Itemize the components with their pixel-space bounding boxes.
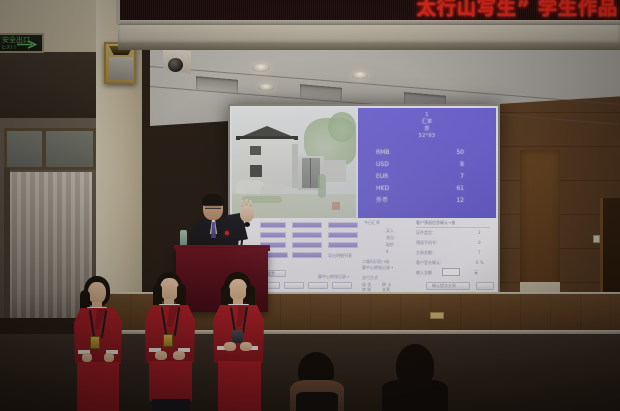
hostess-hand [104,353,114,362]
currency-row: USD 8 [376,160,480,169]
form-left-label: 今日汇率 [364,220,380,225]
hostess-hand [240,342,252,351]
exit-sign-english-label: EXIT [2,45,17,52]
heading-line-4: 52*93 [358,133,496,140]
form-chip[interactable] [292,252,322,258]
form-input-unit: 元 [474,270,478,275]
hostess-hand [82,353,92,362]
heading-line-3: 表 [358,126,496,133]
stage-outlet-plate [430,312,444,319]
form-cancel-button[interactable] [476,282,494,290]
hostess-skirt [149,361,192,401]
hostess-hand [173,351,185,360]
heading-line-1: 1 [358,112,496,119]
hostess-badge [90,336,100,349]
audience-member-2 [378,344,452,411]
currency-panel-heading: 1 汇率 表 52*93 [358,112,496,140]
hostess-legs [152,399,190,411]
form-left-label: 4 [386,249,389,254]
hostess-skirt [77,362,119,411]
form-chip[interactable] [292,242,322,248]
left-window [4,128,96,170]
hostess-hand [155,351,167,360]
form-right-field-label: 交易金额： [416,250,436,255]
hostess-badge [163,334,173,347]
led-banner-frame-bottom [118,20,620,25]
form-left-label: 卖出 [386,235,394,240]
form-chip[interactable] [328,242,358,248]
currency-value: 61 [456,184,464,193]
currency-row: HKD 61 [376,184,480,193]
form-footer-button[interactable] [284,282,304,289]
audience-member-1 [282,352,352,411]
audience-coat [296,392,338,411]
slide-form-panel: 导出明细列表 查询 重置 算中心转账记录→ 今日汇率 买入 卖出 现钞 4 二维… [230,218,498,292]
hostess-skirt [218,361,261,411]
form-chip[interactable] [328,232,358,238]
currency-value: 8 [460,160,464,169]
currency-value: 12 [456,196,464,205]
currency-code: 外币 [376,196,388,205]
currency-row: EUR 7 [376,172,480,181]
glasses-icon [205,205,221,209]
form-right-field-value: 0 [478,240,481,245]
form-footer-button[interactable] [308,282,328,289]
ceiling-light [258,84,274,91]
form-chip[interactable] [292,222,322,228]
hostess-hand [224,342,236,351]
form-export-label[interactable]: 导出明细列表 [328,253,352,258]
presenter-lapel-pin [225,231,229,235]
currency-code: RMB [376,148,389,157]
form-note-line-2: 算中心转账记录→ [362,265,393,270]
wood-panel-patch [520,150,560,300]
led-banner: 太行山写生” 学生作品 [118,0,620,22]
handheld-device [232,330,243,343]
form-note-right: 算中心转账记录→ [318,274,349,279]
currency-row: RMB 50 [376,148,480,157]
soffit-shadow [118,43,620,50]
speaker-grill [109,57,133,80]
security-camera-icon [168,58,183,72]
window-mullion [42,128,46,170]
hostess-face [88,282,106,304]
ceiling-light [352,72,368,79]
currency-code: EUR [376,172,388,181]
form-right-field-value: 2 [478,230,481,235]
form-right-field-label: 客户签名确认： [416,260,444,265]
form-submit-label: 确认提交交易 [432,283,456,288]
form-right-field-value: 7 [478,250,481,255]
form-right-field-label: 预留手机号： [416,240,440,245]
form-reset-label: 重置 [267,271,275,276]
form-chip[interactable] [260,222,286,228]
ceiling-soffit [118,24,620,44]
form-right-field-label: 证件类型： [416,230,436,235]
hostess-3 [208,272,268,411]
curtain-edge [4,168,10,318]
form-right-title: 客户预留信息确认→查 [416,220,455,225]
currency-code: USD [376,160,389,169]
currency-code: HKD [376,184,389,193]
form-left-label: 现钞 [386,242,394,247]
form-input-label: 输入金额 [416,270,432,275]
form-right-field-value: 6 % [476,260,484,265]
right-arrow-icon [17,40,39,49]
currency-row: 外币 12 [376,196,480,205]
screenshot-root: 安全出口 EXIT 太行山写生” 学生作品 [0,0,620,411]
form-footer-button[interactable] [332,282,352,289]
form-note-line-1: 二维码识别→结 [362,259,389,264]
form-section-label: 支付方式 [362,275,378,280]
hostess-face [229,279,247,301]
form-amount-input[interactable] [442,268,460,276]
led-banner-text: 太行山写生” 学生作品 [417,0,618,19]
currency-value: 50 [456,148,464,157]
heading-line-2: 汇率 [358,119,496,126]
hostess-1 [68,276,128,411]
form-left-label: 买入 [386,228,394,233]
exit-sign: 安全出口 EXIT [0,33,44,53]
wall-switch-plate [593,235,600,243]
hostess-2 [140,272,200,411]
projection-screen: 1 汇率 表 52*93 RMB 50 USD 8 EUR 7 HKD 61 [230,106,498,292]
form-chip[interactable] [260,232,286,238]
form-chip[interactable] [292,232,322,238]
audience-coat [382,380,448,411]
led-banner-frame-left [116,0,120,24]
form-chip[interactable] [328,222,358,228]
currency-value: 7 [460,172,464,181]
presenter-raised-hand [240,205,254,222]
slide-currency-panel: 1 汇率 表 52*93 RMB 50 USD 8 EUR 7 HKD 61 [358,108,496,218]
ceiling-light [252,64,270,72]
microphone-icon [244,222,250,227]
